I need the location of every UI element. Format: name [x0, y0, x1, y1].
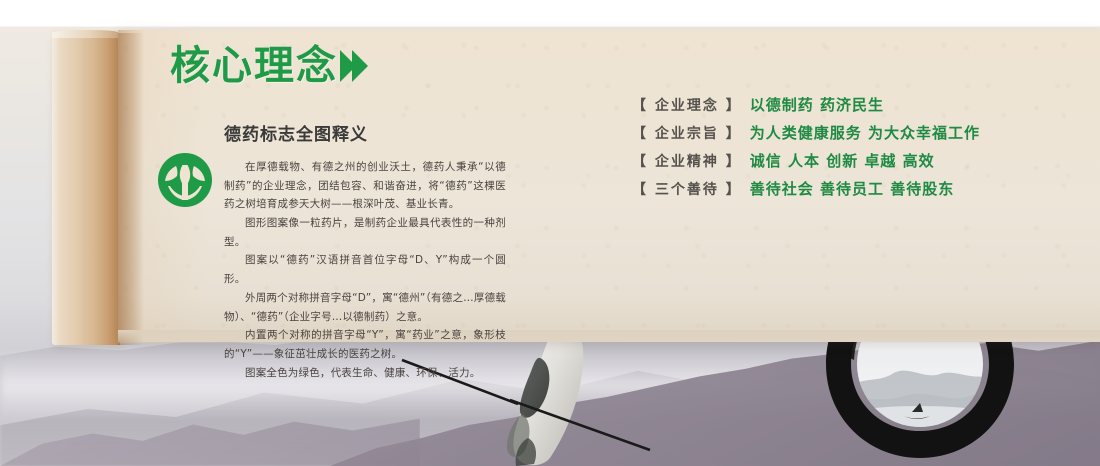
article-paragraph: 图形图案像一粒药片，是制药企业最具代表性的一种剂型。	[224, 214, 506, 251]
core-value-text: 为人类健康服务 为大众幸福工作	[750, 122, 980, 143]
article-block: 德药标志全图释义 在厚德载物、有德之州的创业沃土，德药人秉承“以德制药”的企业理…	[224, 120, 506, 382]
scroll-fold-shadow	[118, 33, 144, 345]
scroll-roll-top	[52, 30, 120, 38]
core-value-text: 以德制药 药济民生	[750, 94, 884, 115]
core-value-label: 【 企业理念 】	[632, 95, 742, 115]
article-paragraph: 图案全色为绿色，代表生命、健康、环保、活力。	[224, 364, 506, 383]
scroll-roll	[52, 33, 120, 345]
core-value-label: 【 三个善待 】	[632, 179, 742, 199]
article-paragraph: 在厚德载物、有德之州的创业沃土，德药人秉承“以德制药”的企业理念，团结包容、和谐…	[224, 158, 506, 214]
article-paragraph: 内置两个对称的拼音字母“Y”，寓“药业”之意，象形枝的“Y”——象征茁壮成长的医…	[224, 326, 506, 363]
core-value-row: 【 企业理念 】 以德制药 药济民生	[632, 94, 980, 122]
article-title: 德药标志全图释义	[224, 120, 506, 145]
core-value-label: 【 企业精神 】	[632, 151, 742, 171]
core-value-text: 善待社会 善待员工 善待股东	[750, 178, 954, 199]
poster-canvas: 德 核心理念 德药标志全图释义 在厚德载物、有德之州的创业沃土，德药人秉承“以德…	[0, 0, 1100, 466]
article-paragraph: 图案以“德药”汉语拼音首位字母“D、Y”构成一个圆形。	[224, 251, 506, 288]
article-paragraph: 外周两个对称拼音字母“D”，寓“德州”（有德之…厚德载物）、“德药”（企业字号……	[224, 289, 506, 326]
core-value-label: 【 企业宗旨 】	[632, 123, 742, 143]
core-value-row: 【 三个善待 】 善待社会 善待员工 善待股东	[632, 178, 980, 206]
headline-text: 核心理念	[170, 46, 338, 86]
double-chevron-right-icon	[344, 50, 368, 82]
core-value-row: 【 企业精神 】 诚信 人本 创新 卓越 高效	[632, 150, 980, 178]
core-values-list: 【 企业理念 】 以德制药 药济民生 【 企业宗旨 】 为人类健康服务 为大众幸…	[632, 94, 980, 206]
core-value-text: 诚信 人本 创新 卓越 高效	[750, 150, 935, 171]
headline: 核心理念	[170, 46, 368, 86]
de-yao-circular-logo	[157, 152, 213, 208]
core-value-row: 【 企业宗旨 】 为人类健康服务 为大众幸福工作	[632, 122, 980, 150]
